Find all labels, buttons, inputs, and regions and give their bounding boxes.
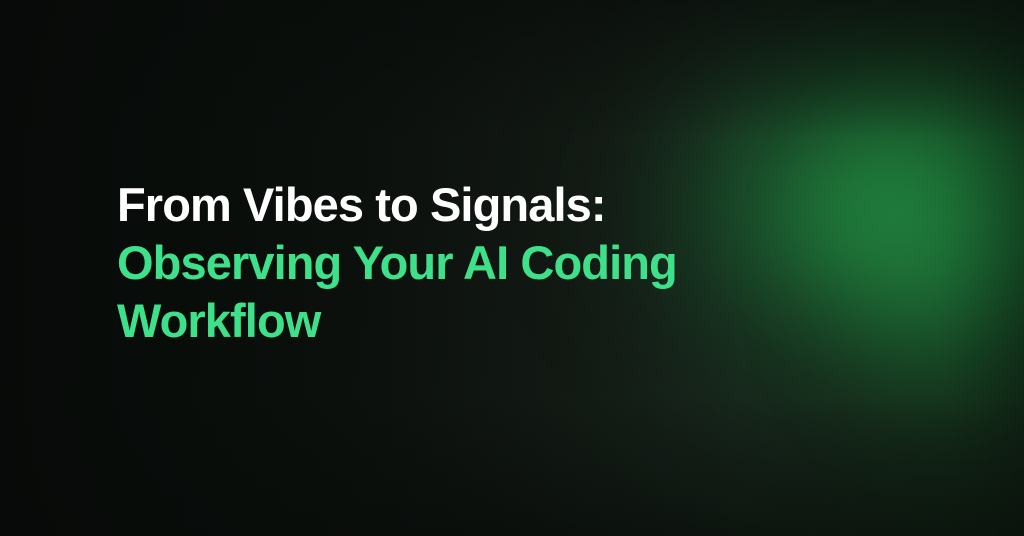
page-title: From Vibes to Signals: Observing Your AI… <box>117 176 817 350</box>
title-line-3: Workflow <box>117 292 817 350</box>
hero-banner: From Vibes to Signals: Observing Your AI… <box>0 0 1024 536</box>
title-line-1: From Vibes to Signals: <box>117 176 817 234</box>
title-line-2: Observing Your AI Coding <box>117 234 817 292</box>
